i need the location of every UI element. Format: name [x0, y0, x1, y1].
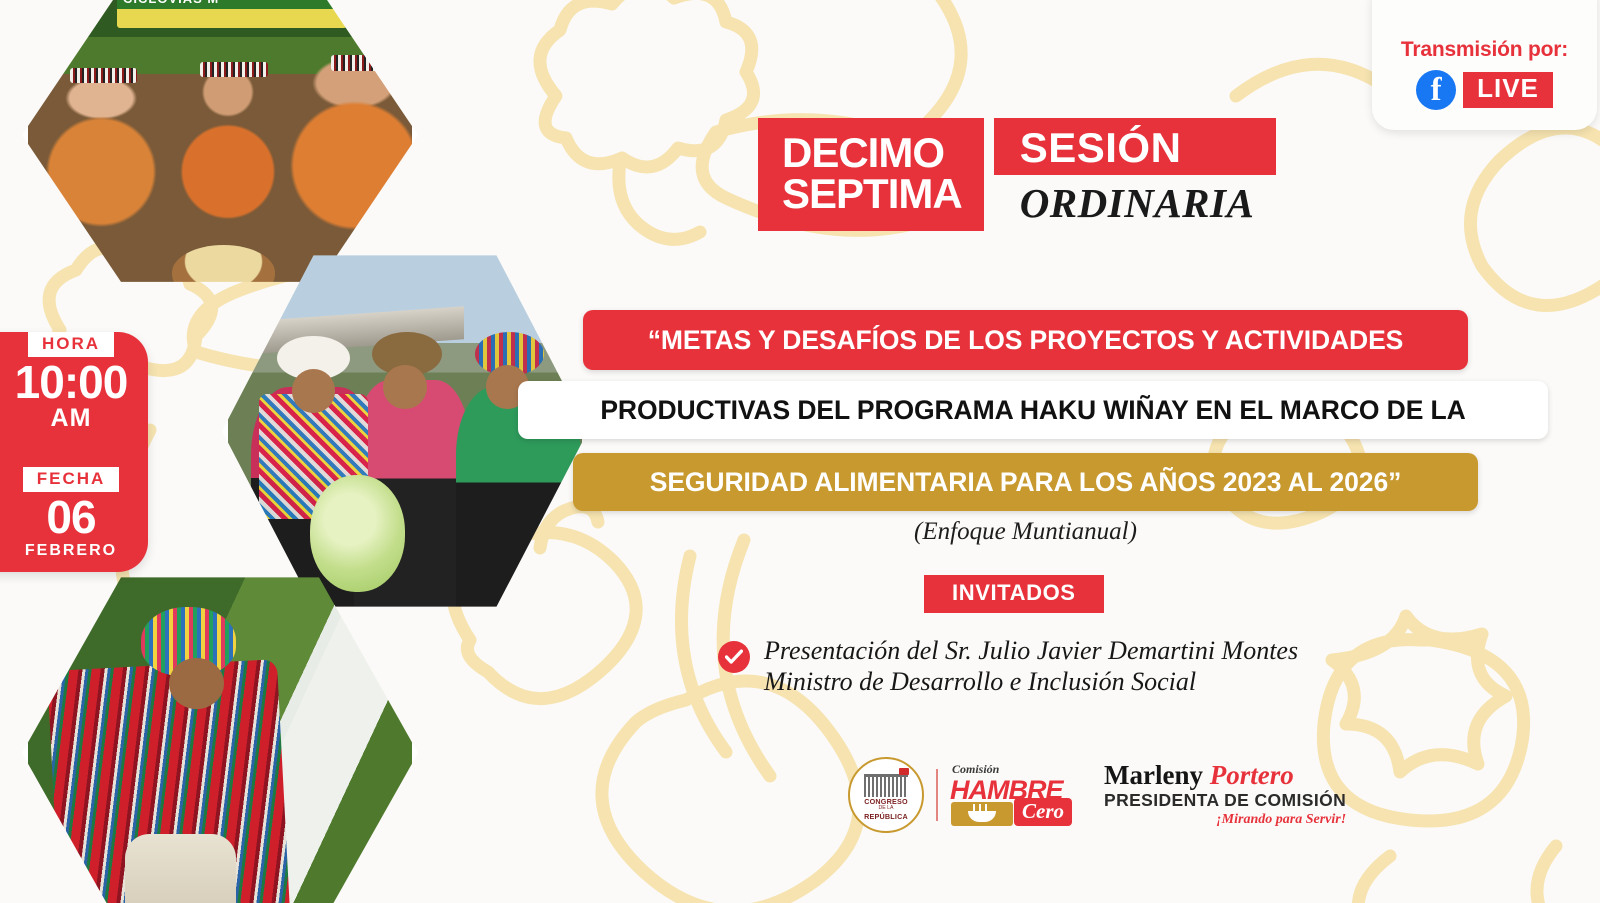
congress-logo-line2: DE LA	[850, 805, 922, 811]
poster-canvas: CICLOVIAS M HORA	[0, 0, 1600, 903]
broadcast-label: Transmisión por:	[1401, 38, 1568, 62]
hora-value: 10:00	[0, 359, 148, 406]
schedule-panel: HORA 10:00 AM FECHA 06 FEBRERO	[0, 332, 148, 572]
fecha-label: FECHA	[23, 467, 120, 492]
hora-meridiem: AM	[0, 406, 148, 431]
congress-seal-icon: CONGRESO DE LA REPÚBLICA	[848, 757, 924, 833]
hora-label: HORA	[28, 332, 114, 357]
check-circle-icon	[718, 641, 750, 673]
guest-entry: Presentación del Sr. Julio Javier Demart…	[718, 636, 1298, 697]
president-first-name: Marleny	[1104, 760, 1203, 790]
title-subtitle: (Enfoque Muntianual)	[583, 518, 1468, 546]
session-ordinal-block: DECIMO SEPTIMA	[758, 118, 984, 231]
president-slogan: ¡Mirando para Servir!	[1216, 812, 1346, 827]
session-type-line2: ORDINARIA	[994, 175, 1277, 226]
title-bar-line2: PRODUCTIVAS DEL PROGRAMA HAKU WIÑAY EN E…	[518, 381, 1548, 439]
president-last-name: Portero	[1210, 760, 1294, 790]
facebook-icon[interactable]	[1416, 70, 1456, 110]
session-ordinal-line1: DECIMO	[782, 132, 962, 173]
session-type-block: SESIÓN ORDINARIA	[994, 118, 1277, 231]
fecha-day: 06	[0, 494, 148, 541]
soup-bowl-icon	[951, 802, 1013, 826]
invitados-badge: INVITADOS	[924, 575, 1104, 613]
president-role: PRESIDENTA DE COMISIÓN	[1104, 790, 1346, 811]
title-bar-line1: “METAS Y DESAFÍOS DE LOS PROYECTOS Y ACT…	[583, 310, 1468, 370]
session-type-line1: SESIÓN	[994, 118, 1277, 175]
guest-role-line: Ministro de Desarrollo e Inclusión Socia…	[764, 667, 1298, 698]
session-ordinal-line2: SEPTIMA	[782, 173, 962, 215]
session-divider	[984, 118, 994, 231]
fecha-month: FEBRERO	[0, 542, 148, 560]
live-badge: LIVE	[1463, 72, 1553, 107]
commission-word2: Cero	[1014, 799, 1072, 824]
commission-word2-box: Cero	[1014, 798, 1072, 826]
hambre-cero-logo: Comisión HAMBRE Cero	[950, 764, 1056, 826]
president-block: Marleny Portero PRESIDENTA DE COMISIÓN ¡…	[1104, 762, 1346, 828]
title-bar-line3: SEGURIDAD ALIMENTARIA PARA LOS AÑOS 2023…	[573, 453, 1478, 511]
guest-name-line: Presentación del Sr. Julio Javier Demart…	[764, 636, 1298, 667]
footer-logos: CONGRESO DE LA REPÚBLICA Comisión HAMBRE…	[848, 757, 1346, 833]
congress-logo-line3: REPÚBLICA	[850, 812, 922, 821]
logo-divider	[936, 769, 938, 821]
session-heading: DECIMO SEPTIMA SESIÓN ORDINARIA	[758, 118, 1276, 231]
broadcast-card[interactable]: Transmisión por: LIVE	[1372, 0, 1597, 130]
